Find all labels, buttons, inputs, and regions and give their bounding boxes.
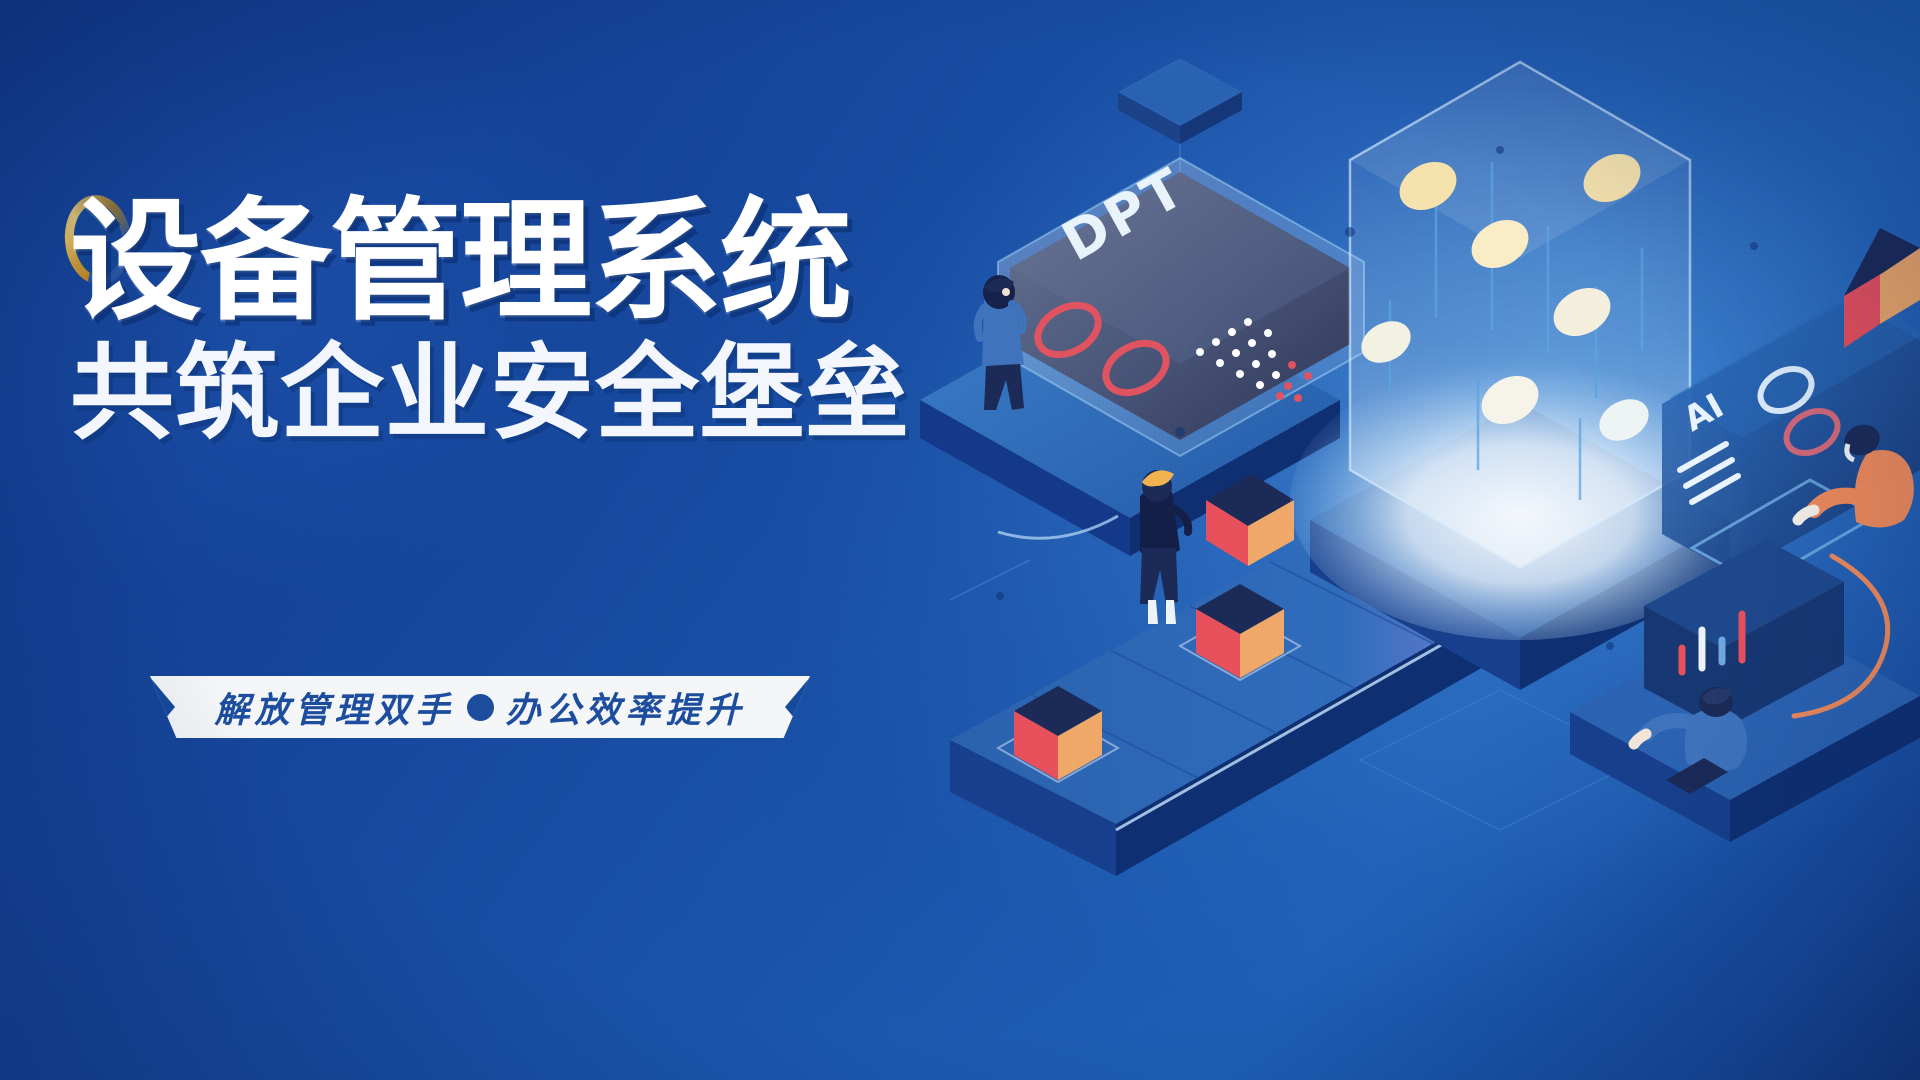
- tagline-separator-dot: [467, 694, 494, 721]
- page-subtitle: 共筑企业安全堡垒: [70, 338, 970, 448]
- ribbon-notch-right: [785, 676, 811, 738]
- isometric-illustration: DPT: [880, 0, 1920, 1080]
- tagline-left: 解放管理双手: [214, 682, 454, 733]
- tagline-ribbon: 解放管理双手 办公效率提升: [150, 676, 810, 738]
- headline-block: 设备管理系统 共筑企业安全堡垒: [70, 195, 970, 448]
- banner-root: DPT: [0, 0, 1920, 1080]
- floating-tile: [1118, 58, 1242, 144]
- tagline-content: 解放管理双手 办公效率提升: [214, 682, 745, 733]
- page-title: 设备管理系统: [70, 195, 970, 330]
- ai-panel-group: AI: [1662, 294, 1920, 584]
- tagline-right: 办公效率提升: [506, 682, 746, 733]
- ribbon-notch-left: [149, 676, 175, 738]
